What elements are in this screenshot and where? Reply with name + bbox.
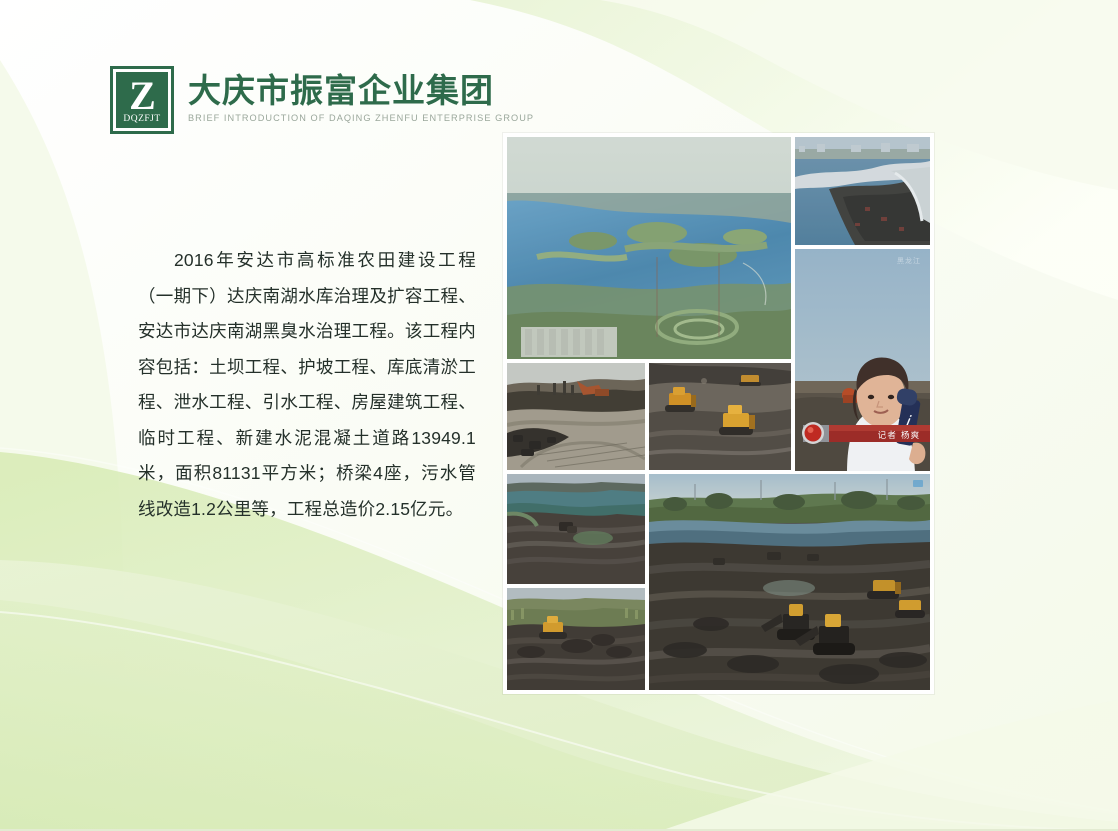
logo-letter-z: Z xyxy=(129,79,155,113)
photo-bulldozers-slope xyxy=(649,363,791,470)
brand-logo: Z DQZFJT 大庆市振富企业集团 BRIEF INTRODUCTION OF… xyxy=(110,66,534,134)
logo-mark-icon: Z DQZFJT xyxy=(110,66,174,134)
photo-tv-reporter: 𝑗 记者 杨爽 黑龙江 xyxy=(795,249,930,471)
photo-earthworks-field xyxy=(507,588,645,690)
photo-aerial-shoreline xyxy=(795,137,930,245)
logo-text-group: 大庆市振富企业集团 BRIEF INTRODUCTION OF DAQING Z… xyxy=(188,66,534,123)
photo-channel-dredging xyxy=(507,474,645,584)
photo-lake-masterplan xyxy=(507,137,791,359)
logo-abbreviation: DQZFJT xyxy=(123,114,160,124)
company-name: 大庆市振富企业集团 xyxy=(188,72,534,110)
company-tagline: BRIEF INTRODUCTION OF DAQING ZHENFU ENTE… xyxy=(188,113,534,123)
photo-excavation-site xyxy=(507,363,645,470)
project-description: 2016年安达市高标准农田建设工程（一期下）达庆南湖水库治理及扩容工程、安达市达… xyxy=(138,243,476,527)
photo-machinery-panorama xyxy=(649,474,930,690)
photo-collage: 𝑗 记者 杨爽 黑龙江 xyxy=(503,133,934,694)
slide-canvas: Z DQZFJT 大庆市振富企业集团 BRIEF INTRODUCTION OF… xyxy=(0,0,1118,831)
